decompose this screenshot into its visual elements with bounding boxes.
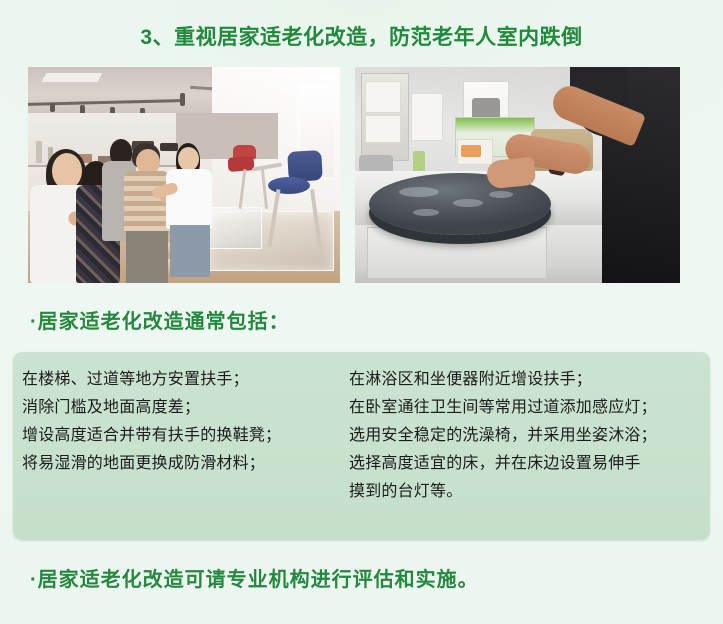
- measures-box: 在楼梯、过道等地方安置扶手； 消除门槛及地面高度差； 增设高度适合并带有扶手的换…: [13, 352, 710, 540]
- leaflet-image: [461, 145, 481, 157]
- shelf-item: [160, 143, 178, 151]
- cushion-texture: [413, 209, 439, 216]
- info-card: [411, 93, 443, 141]
- cushion-demo-photo: [355, 67, 680, 283]
- right-column: 在淋浴区和坐便器附近增设扶手； 在卧室通往卫生间等常用过道添加感应灯； 选用安全…: [348, 352, 709, 540]
- section-heading-assessment: ·居家适老化改造可请专业机构进行评估和实施。: [30, 563, 479, 592]
- page-root: 3、重视居家适老化改造，防范老年人室内跌倒: [0, 0, 723, 624]
- cushion-texture: [489, 191, 513, 198]
- list-item: 消除门槛及地面高度差；: [22, 394, 348, 422]
- list-item: 在楼梯、过道等地方安置扶手；: [22, 366, 348, 394]
- person-body: [166, 169, 212, 229]
- section-heading-includes: ·居家适老化改造通常包括：: [30, 305, 290, 334]
- spotlight-icon: [180, 93, 185, 106]
- list-item: 选用安全稳定的洗澡椅，并采用坐姿沐浴；: [349, 422, 709, 450]
- list-item: 在淋浴区和坐便器附近增设扶手；: [349, 366, 709, 394]
- list-item: 在卧室通往卫生间等常用过道添加感应灯；: [349, 394, 709, 422]
- person-head: [178, 147, 199, 171]
- green-bottle: [413, 151, 425, 173]
- ceiling-light-panel-icon: [42, 73, 103, 82]
- info-card: [365, 81, 401, 113]
- person-body: [124, 171, 170, 235]
- list-item: 增设高度适合并带有扶手的换鞋凳；: [22, 422, 348, 450]
- glass-display-case-back: [204, 207, 262, 249]
- info-card: [365, 115, 401, 143]
- list-item: 摸到的台灯等。: [349, 478, 709, 506]
- spotlight-icon: [50, 103, 55, 112]
- showroom-photo: [28, 67, 340, 283]
- person-trousers: [170, 225, 210, 277]
- person-head: [52, 153, 82, 189]
- measures-columns: 在楼梯、过道等地方安置扶手； 消除门槛及地面高度差； 增设高度适合并带有扶手的换…: [13, 352, 710, 540]
- person-trousers: [126, 231, 168, 283]
- shelf-item: [36, 141, 42, 163]
- page-title: 3、重视居家适老化改造，防范老年人室内跌倒: [0, 21, 723, 51]
- cushion-texture: [453, 199, 483, 207]
- list-item: 选择高度适宜的床，并在床边设置易伸手: [349, 450, 709, 478]
- left-column: 在楼梯、过道等地方安置扶手； 消除门槛及地面高度差； 增设高度适合并带有扶手的换…: [13, 352, 348, 540]
- list-item: 将易湿滑的地面更换成防滑材料；: [22, 450, 348, 478]
- photo-row: [28, 67, 680, 283]
- red-assistive-chair-seat: [228, 156, 255, 172]
- cushion-texture: [399, 187, 439, 197]
- back-wall: [158, 113, 278, 159]
- blue-assistive-chair-seat: [268, 177, 310, 194]
- person-hand: [486, 157, 537, 190]
